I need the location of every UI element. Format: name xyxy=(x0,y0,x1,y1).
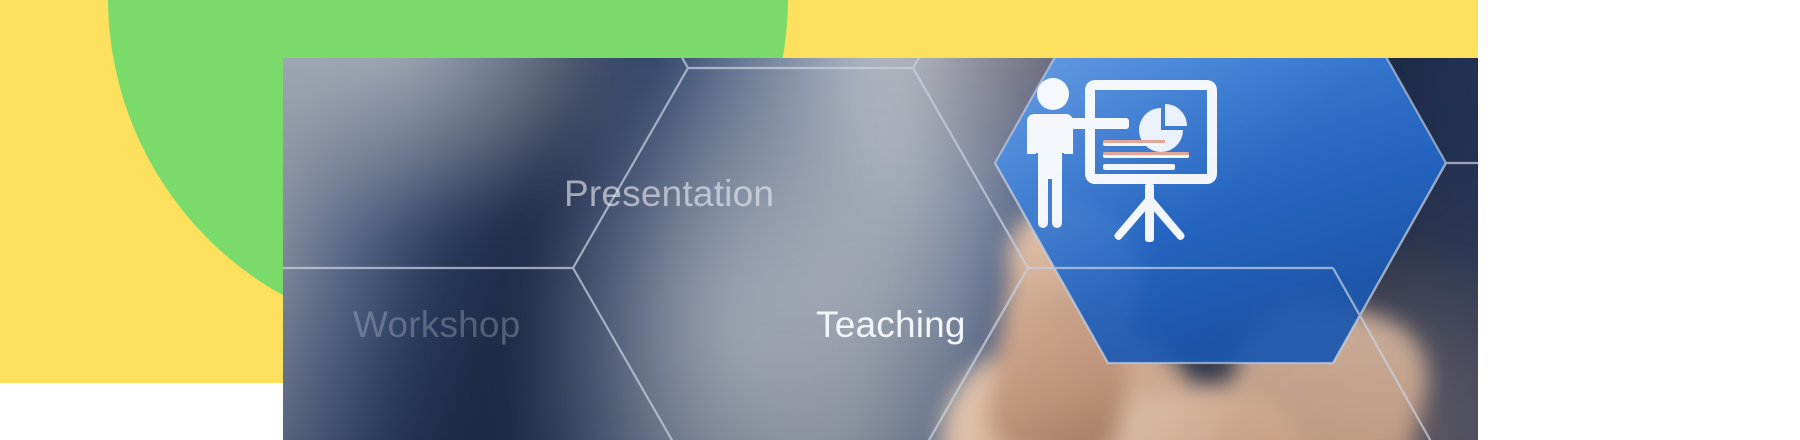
hex-line-4 xyxy=(913,58,1028,68)
hex-line-3 xyxy=(573,58,688,68)
hex-line-6 xyxy=(913,268,1028,440)
hex-line-7 xyxy=(1333,268,1446,440)
hex-line-8 xyxy=(995,58,1446,363)
hero-photo: Presentation Workshop Teaching xyxy=(283,58,1478,440)
screenshot-canvas: Presentation Workshop Teaching xyxy=(0,0,1800,440)
hex-label-workshop[interactable]: Workshop xyxy=(353,304,521,346)
hex-label-presentation[interactable]: Presentation xyxy=(564,173,774,215)
hex-line-2 xyxy=(573,268,688,440)
hex-line-11 xyxy=(1333,163,1446,363)
photo-inner: Presentation Workshop Teaching xyxy=(283,58,1478,440)
hex-label-teaching[interactable]: Teaching xyxy=(816,304,966,346)
hex-line-10 xyxy=(995,163,1108,363)
hex-line-1 xyxy=(283,68,1028,440)
hexagon-grid-overlay xyxy=(283,58,1478,440)
